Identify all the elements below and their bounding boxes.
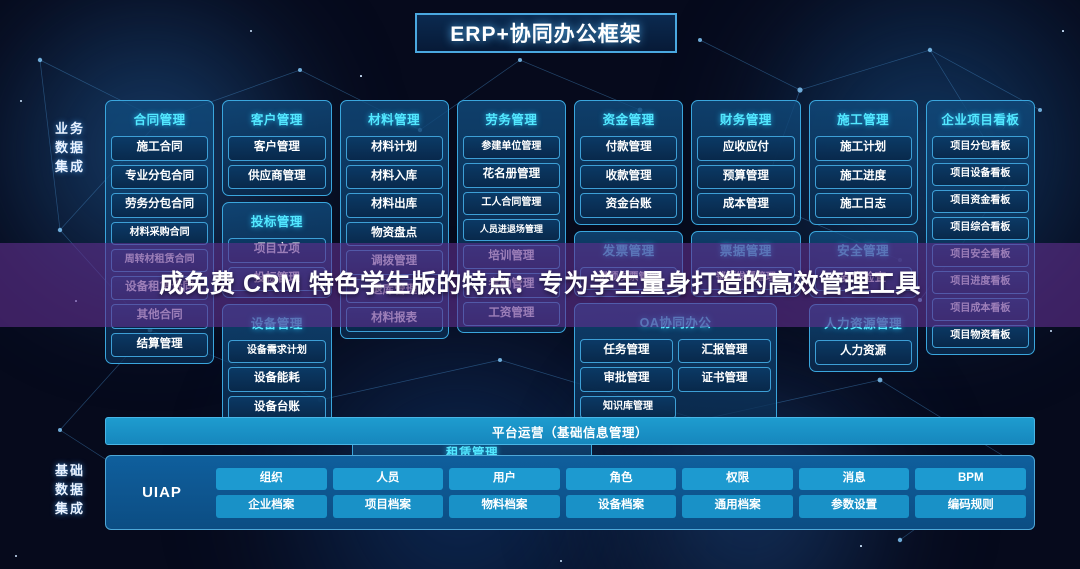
group-header: 材料管理	[346, 106, 443, 132]
side-label-line: 业务	[34, 120, 106, 139]
side-label-line: 数据	[34, 139, 106, 158]
uiap-column: 角色 设备档案	[566, 468, 677, 518]
group-header: 合同管理	[111, 106, 208, 132]
uiap-column: BPM 编码规则	[915, 468, 1026, 518]
module-item[interactable]: 项目分包看板	[932, 136, 1029, 159]
side-label-line: 基础	[34, 462, 106, 481]
module-item[interactable]: 客户管理	[228, 136, 325, 161]
uiap-item[interactable]: 人员	[333, 468, 444, 491]
module-item[interactable]: 审批管理	[580, 367, 673, 392]
uiap-item[interactable]: 角色	[566, 468, 677, 491]
group-header: 财务管理	[697, 106, 794, 132]
page-title: ERP+协同办公框架	[415, 13, 677, 53]
platform-operations-bar: 平台运营（基础信息管理）	[105, 417, 1035, 445]
group-header: 客户管理	[228, 106, 325, 132]
module-item[interactable]: 施工日志	[815, 193, 912, 218]
group-header: 投标管理	[228, 208, 325, 234]
group-header: 施工管理	[815, 106, 912, 132]
group-header: 企业项目看板	[932, 106, 1029, 132]
module-group: 施工管理 施工计划 施工进度 施工日志	[809, 100, 918, 225]
oa-row: 知识库管理	[580, 396, 771, 419]
uiap-item[interactable]: 用户	[449, 468, 560, 491]
uiap-panel: UIAP 组织 企业档案 人员 项目档案 用户 物料档案 角色 设备档案 权限 …	[105, 455, 1035, 530]
uiap-grid: 组织 企业档案 人员 项目档案 用户 物料档案 角色 设备档案 权限 通用档案 …	[216, 468, 1026, 518]
module-item[interactable]: 结算管理	[111, 333, 208, 358]
module-group: 财务管理 应收应付 预算管理 成本管理	[691, 100, 800, 225]
oa-row: 审批管理 证书管理	[580, 367, 771, 392]
module-item[interactable]: 参建单位管理	[463, 136, 560, 159]
module-item[interactable]: 工人合同管理	[463, 192, 560, 215]
uiap-item[interactable]: 编码规则	[915, 495, 1026, 518]
uiap-item[interactable]: 物料档案	[449, 495, 560, 518]
module-item[interactable]: 成本管理	[697, 193, 794, 218]
module-item[interactable]: 任务管理	[580, 339, 673, 364]
module-group: 资金管理 付款管理 收款管理 资金台账	[574, 100, 683, 225]
uiap-item[interactable]: 消息	[799, 468, 910, 491]
oa-row: 任务管理 汇报管理	[580, 339, 771, 364]
module-item[interactable]: 设备能耗	[228, 367, 325, 392]
module-item[interactable]: 花名册管理	[463, 163, 560, 188]
module-item[interactable]: 材料入库	[346, 165, 443, 190]
module-item[interactable]: 项目设备看板	[932, 163, 1029, 186]
uiap-item[interactable]: 设备档案	[566, 495, 677, 518]
module-group: 客户管理 客户管理 供应商管理	[222, 100, 331, 196]
uiap-item[interactable]: 参数设置	[799, 495, 910, 518]
side-label-line: 集成	[34, 500, 106, 519]
module-item[interactable]: 付款管理	[580, 136, 677, 161]
side-label-line: 数据	[34, 481, 106, 500]
module-item[interactable]: 施工合同	[111, 136, 208, 161]
module-item[interactable]: 人员进退场管理	[463, 219, 560, 241]
module-item[interactable]: 汇报管理	[678, 339, 771, 364]
module-item[interactable]: 施工计划	[815, 136, 912, 161]
module-item[interactable]: 资金台账	[580, 193, 677, 218]
caption-overlay-banner: 成免费 CRM 特色学生版的特点：专为学生量身打造的高效管理工具	[0, 243, 1080, 327]
module-item[interactable]: 材料出库	[346, 193, 443, 218]
module-item[interactable]: 收款管理	[580, 165, 677, 190]
module-item[interactable]: 应收应付	[697, 136, 794, 161]
side-label-base-data-integration: 基础 数据 集成	[34, 462, 106, 519]
module-item[interactable]: 证书管理	[678, 367, 771, 392]
uiap-item[interactable]: BPM	[915, 468, 1026, 491]
uiap-column: 组织 企业档案	[216, 468, 327, 518]
module-item[interactable]: 知识库管理	[580, 396, 676, 419]
module-item[interactable]: 设备需求计划	[228, 340, 325, 363]
uiap-label: UIAP	[114, 484, 210, 501]
module-item[interactable]: 预算管理	[697, 165, 794, 190]
uiap-item[interactable]: 项目档案	[333, 495, 444, 518]
module-item[interactable]: 材料采购合同	[111, 222, 208, 245]
module-item[interactable]: 人力资源	[815, 340, 912, 365]
module-item[interactable]: 供应商管理	[228, 165, 325, 190]
group-header: 劳务管理	[463, 106, 560, 132]
module-column-construction: 施工管理 施工计划 施工进度 施工日志 安全管理 安全检查 人力资源管理 人力资…	[809, 100, 918, 372]
module-item[interactable]: 施工进度	[815, 165, 912, 190]
side-label-line: 集成	[34, 158, 106, 177]
module-item[interactable]: 材料计划	[346, 136, 443, 161]
side-label-business-data-integration: 业务 数据 集成	[34, 120, 106, 177]
module-item[interactable]: 项目物资看板	[932, 325, 1029, 348]
uiap-item[interactable]: 企业档案	[216, 495, 327, 518]
caption-text: 成免费 CRM 特色学生版的特点：专为学生量身打造的高效管理工具	[35, 270, 1045, 300]
uiap-item[interactable]: 组织	[216, 468, 327, 491]
uiap-item[interactable]: 权限	[682, 468, 793, 491]
uiap-item[interactable]: 通用档案	[682, 495, 793, 518]
uiap-column: 人员 项目档案	[333, 468, 444, 518]
module-item[interactable]: 项目资金看板	[932, 190, 1029, 213]
uiap-column: 用户 物料档案	[449, 468, 560, 518]
uiap-column: 消息 参数设置	[799, 468, 910, 518]
module-item[interactable]: 专业分包合同	[111, 165, 208, 190]
module-item[interactable]: 劳务分包合同	[111, 193, 208, 218]
group-header: 资金管理	[580, 106, 677, 132]
module-item[interactable]: 项目综合看板	[932, 217, 1029, 240]
uiap-column: 权限 通用档案	[682, 468, 793, 518]
